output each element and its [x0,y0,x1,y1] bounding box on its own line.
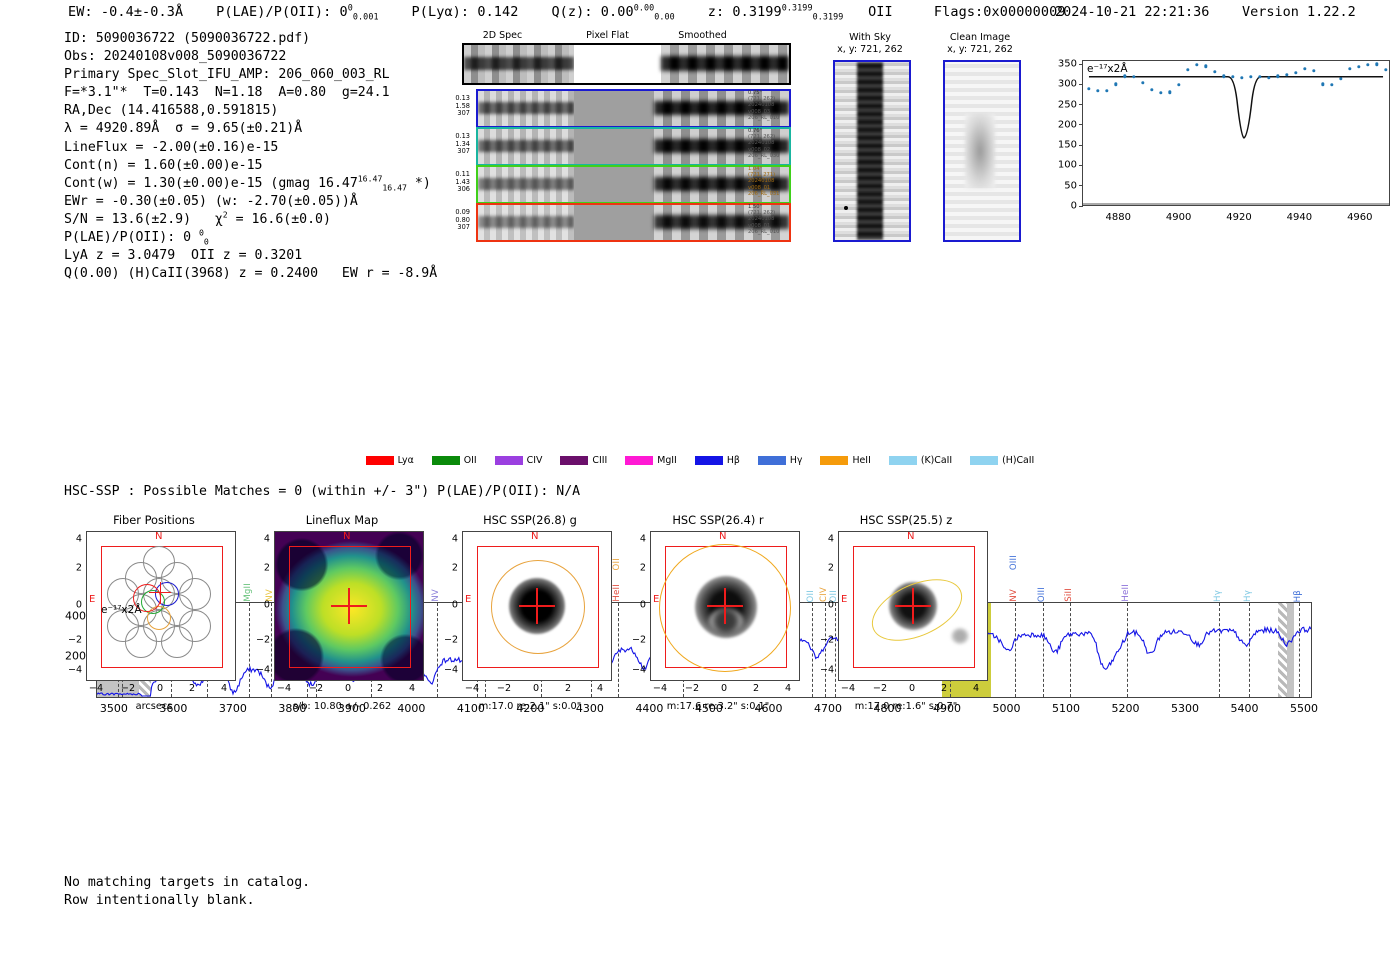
axis-y-tick: 0 [68,600,82,611]
axis-y-tick: −2 [820,635,834,646]
spectrum-y-ticks: 200400 [0,602,96,696]
spectrum-unit-label: e⁻¹⁷x2Å [101,604,142,616]
axis-y-tick: −4 [68,665,82,676]
fiber-pixelflat [574,167,654,202]
east-label: E [653,594,659,605]
legend-label: OII [464,455,477,466]
legend-item: (H)CaII [970,455,1034,466]
crosshair-h [895,605,931,607]
fiber-row-left-labels: 0.131.58307 [426,95,470,118]
axis-y-tick: 0 [632,600,646,611]
spec2d-title-smoothed: Smoothed [660,30,745,41]
legend-item: CIV [495,455,543,466]
info-primary-spec: Primary Spec_Slot_IFU_AMP: 206_060_003_R… [64,66,437,84]
legend-label: (K)CaII [921,455,952,466]
axis-y-tick: 4 [68,534,82,545]
spec2d-ws-2dspec-bright [464,57,574,70]
line-label-hγ: Hγ [1213,590,1223,602]
line-label-heii: HeII [612,584,622,602]
info-throughput: F=*3.1"* T=0.143 N=1.18 A=0.80 g=24.1 [64,84,437,102]
inset-y-tick: 100 [1058,160,1077,171]
axis-y-tick: 0 [820,600,834,611]
info-plae-ratio: P(LAE)/P(OII): 0 00 [64,229,437,247]
axis-x-tick: 2 [565,683,571,694]
legend-label: MgII [657,455,677,466]
aperture-box [289,546,411,668]
axis-y-tick: 2 [820,563,834,574]
axis-x-tick: −2 [685,683,699,694]
legend-swatch [889,456,917,465]
axis-x-tick: −2 [121,683,135,694]
north-label: N [343,531,350,542]
axis-y-tick: 4 [820,534,834,545]
spec2d-weighted-sum-row [462,43,791,85]
axis-x-tick: −4 [841,683,855,694]
axis-y-tick: −2 [68,635,82,646]
panel-title: Lineflux Map [248,513,436,529]
footer-line-1: No matching targets in catalog. [64,875,310,890]
fiber-pixelflat [574,205,654,240]
cutout-title-with-sky: With Skyx, y: 721, 262 [820,32,920,55]
axis-y-tick: 0 [444,600,458,611]
spec2d-title-pixelflat: Pixel Flat [565,30,650,41]
legend-label: CIII [592,455,607,466]
spectrum-y-tick: 200 [52,650,86,663]
axis-y-tick: 4 [444,534,458,545]
fiber-row-right-labels: 0.75"(721, 262)20240108v008_03206_RL_010 [748,90,780,121]
spec2d-fiber-row[interactable] [476,203,791,242]
line-label-mgii: MgII [243,583,253,602]
fiber-row-right-labels: 1.50"(721, 262)20240108v008_01206_RL_010 [748,204,780,235]
line-label-oii: OII [612,558,622,570]
spec2d-fiber-row[interactable] [476,127,791,166]
hsc-r-image[interactable]: N E [650,531,800,681]
east-label: E [89,594,95,605]
header-summary-line: EW: -0.4±-0.3Å P(LAE)/P(OII): 000.001 P(… [68,4,1066,20]
axis-x-tick: 2 [377,683,383,694]
spectrum-x-tick: 5100 [1052,702,1080,715]
timestamp: 2024-10-21 22:21:36 [1055,4,1209,20]
legend-swatch [495,456,523,465]
panel-caption: m:17.0 re:1.6" s:0.7" [812,701,1000,712]
axis-x-tick: −4 [653,683,667,694]
legend-item: Lyα [366,455,414,466]
east-label: E [841,594,847,605]
legend-swatch [820,456,848,465]
line-label-oii: OII [806,590,816,602]
info-lineflux: LineFlux = -2.00(±0.16)e-15 [64,139,437,157]
fiber-pixelflat [574,129,654,164]
hsc-summary-line: HSC-SSP : Possible Matches = 0 (within +… [64,484,580,499]
header-plae-sub: 0.001 [353,12,379,22]
legend-item: HeII [820,455,870,466]
info-lambda-sigma: λ = 4920.89Å σ = 9.65(±0.21)Å [64,120,437,138]
line-label-heii: HeII [1121,584,1131,602]
effective-radius-ellipse [491,560,585,654]
inset-y-tick: 150 [1058,140,1077,151]
axis-y-tick: −4 [820,665,834,676]
panel-title: Fiber Positions [60,513,248,529]
legend-swatch [432,456,460,465]
legend-item: OII [432,455,477,466]
crosshair-h [149,592,171,593]
inset-y-tick: 200 [1058,119,1077,130]
legend-swatch [560,456,588,465]
panel-title: HSC SSP(26.4) r [624,513,812,529]
panel-hsc-g[interactable]: HSC SSP(26.8) g N E 4 2 0 −2 −4 −4 −2 0 … [436,513,624,529]
panel-caption: m:17.0 re:2.1" s:0.0" [436,701,624,712]
legend-label: CIV [527,455,543,466]
info-cont-n: Cont(n) = 1.60(±0.00)e-15 [64,157,437,175]
axis-y-tick: −2 [444,635,458,646]
line-label-nv: NV [431,589,441,602]
spectrum-x-tick: 5400 [1231,702,1259,715]
axis-x-tick: 4 [973,683,979,694]
north-label: N [719,531,726,542]
axis-x-tick: 4 [597,683,603,694]
line-label-siii: SiII [1064,588,1074,602]
axis-x-tick: −4 [277,683,291,694]
spec2d-ws-smoothed-bright [661,56,789,71]
axis-y-tick: 0 [256,600,270,611]
north-label: N [531,531,538,542]
panel-title: HSC SSP(25.5) z [812,513,1000,529]
axis-y-tick: 2 [256,563,270,574]
spectrum-x-tick: 5200 [1112,702,1140,715]
north-label: N [907,531,914,542]
fiber-circle [179,578,211,610]
legend-swatch [366,456,394,465]
header-z: z: 0.3199 [708,4,782,20]
axis-x-tick: 2 [189,683,195,694]
info-chi-post: = 16.6(±0.0) [228,212,331,227]
line-zoom-inset-plot[interactable]: e⁻¹⁷x2Å 05010015020025030035048804900492… [1040,60,1392,232]
fiber-row-left-labels: 0.131.34307 [426,133,470,156]
inset-x-tick: 4880 [1106,212,1131,223]
fiber-circle [161,626,193,658]
axis-x-tick: 0 [909,683,915,694]
header-timestamp-block: 2024-10-21 22:21:36 Version 1.22.2 [1055,4,1356,20]
fiber-row-left-labels: 0.090.80307 [426,209,470,232]
header-plya: P(Lyα): 0.142 [412,4,519,20]
info-cont-w-pre: Cont(w) = 1.30(±0.00)e-15 (gmag 16.47 [64,176,358,191]
line-label-oiii: OIII [1037,587,1047,602]
axis-y-tick: 2 [444,563,458,574]
panel-hsc-z[interactable]: HSC SSP(25.5) z N E 4 2 0 −2 −4 −4 −2 0 … [812,513,1000,529]
fiber-row-right-labels: 0.76"(721, 262)20240108v008_02206_RL_030 [748,128,780,159]
line-label-hβ: Hβ [1293,590,1303,602]
lineflux-map-image[interactable]: N [274,531,424,681]
header-qz-sub: 0.00 [654,12,675,22]
header-qz-sup: 0.00 [634,3,655,13]
inset-x-tick: 4920 [1226,212,1251,223]
fiber-2dspec-core [478,216,574,228]
panel-lineflux-map[interactable]: Lineflux Map N 4 2 0 −2 −4 −4 −2 0 2 4 s… [248,513,436,529]
axis-y-tick: 2 [632,563,646,574]
info-sn-chi: S/N = 13.6(±2.9) χ2 = 16.6(±0.0) [64,211,437,229]
axis-x-tick: 0 [345,683,351,694]
cutout-clean-image[interactable] [943,60,1021,242]
axis-x-tick: 4 [409,683,415,694]
panel-fiber-positions[interactable]: Fiber Positions N E 4 2 0 −2 −4 −4 −2 0 … [60,513,248,529]
inset-y-tick: 250 [1058,99,1077,110]
legend-item: CIII [560,455,607,466]
spec2d-fiber-row[interactable] [476,165,791,204]
axis-x-tick: 0 [533,683,539,694]
spectrum-y-tick: 400 [52,610,86,623]
header-z-sub: 0.3199 [813,12,844,22]
version-label: Version 1.22.2 [1242,4,1356,20]
fiber-2dspec-core [478,102,574,114]
header-ew: EW: -0.4±-0.3Å [68,4,183,20]
spec2d-ws-pixelflat [574,45,661,83]
axis-x-tick: −2 [497,683,511,694]
line-label-hγ: Hγ [1243,590,1253,602]
spectrum-x-tick: 5300 [1171,702,1199,715]
panel-caption: m:17.6 re:3.2" s:0.1" [624,701,812,712]
cutout-trace [965,114,995,188]
inset-y-tick: 350 [1058,59,1077,70]
cutout-title-clean-image: Clean Imagex, y: 721, 262 [925,32,1035,55]
info-obs: Obs: 20240108v008_5090036722 [64,48,437,66]
footer-line-2: Row intentionally blank. [64,893,255,908]
spectrum-x-tick: 5500 [1290,702,1318,715]
header-z-sup: 0.3199 [782,3,813,13]
info-cont-w: Cont(w) = 1.30(±0.00)e-15 (gmag 16.4716.… [64,175,437,193]
legend-label: Lyα [398,455,414,466]
inset-x-tick: 4940 [1287,212,1312,223]
axis-y-tick: 4 [632,534,646,545]
axis-y-tick: −2 [632,635,646,646]
source-info-block: ID: 5090036722 (5090036722.pdf) Obs: 202… [64,30,437,283]
info-plae-pre: P(LAE)/P(OII): 0 [64,230,199,245]
fiber-row-right-labels: 1.04"(721, 271)20240108v008_01206_RL_031 [748,166,780,197]
axis-y-tick: −4 [632,665,646,676]
axis-x-tick: −4 [465,683,479,694]
info-sn-pre: S/N = 13.6(±2.9) χ [64,212,223,227]
axis-x-tick: −2 [309,683,323,694]
legend-swatch [625,456,653,465]
line-label-oiii: OIII [1009,555,1019,570]
crosshair-h [707,605,743,607]
inset-x-tick: 4960 [1347,212,1372,223]
axis-x-tick: 4 [221,683,227,694]
axis-x-tick: 0 [157,683,163,694]
fiber-2dspec-core [478,178,574,190]
fiber-row-left-labels: 0.111.43306 [426,171,470,194]
legend-swatch [758,456,786,465]
cutout-trace [857,62,883,240]
info-id: ID: 5090036722 (5090036722.pdf) [64,30,437,48]
fiber-2dspec-core [478,140,574,152]
axis-y-tick: 2 [68,563,82,574]
full-spectrum-plot[interactable]: e⁻¹⁷x2Å 35003600370038003900400041004200… [0,262,1400,477]
footer-note: No matching targets in catalog. Row inte… [64,874,310,910]
axis-y-tick: −2 [256,635,270,646]
spec2d-fiber-row[interactable] [476,89,791,128]
legend-item: Hγ [758,455,803,466]
crosshair-h [331,605,367,607]
header-plae-poii: P(LAE)/P(OII): 0 [216,4,348,20]
legend-swatch [970,456,998,465]
panel-title: HSC SSP(26.8) g [436,513,624,529]
panel-caption: arcsecs [60,701,248,712]
axis-x-tick: 4 [785,683,791,694]
info-radec: RA,Dec (14.416588,0.591815) [64,102,437,120]
header-flags: Flags:0x00000009 [934,4,1066,20]
inset-y-tick: 300 [1058,79,1077,90]
axis-x-tick: 2 [753,683,759,694]
north-label: N [155,531,162,542]
info-plae2-sub: 0 [204,237,209,247]
spec2d-title-2dspec: 2D Spec [460,30,545,41]
info-cont-w-sup: 16.47 [358,173,383,183]
inset-axis-ticks: 0501001502002503003504880490049204940496… [1082,60,1390,206]
axis-x-tick: 2 [941,683,947,694]
cutout-with-sky[interactable] [833,60,911,242]
info-ewr: EWr = -0.30(±0.05) (w: -2.70(±0.05))Å [64,193,437,211]
axis-y-tick: −4 [444,665,458,676]
legend-item: MgII [625,455,677,466]
legend-item: Hβ [695,455,740,466]
fiber-pixelflat [574,91,654,126]
axis-x-tick: −4 [89,683,103,694]
cutout-marker-dot [844,206,848,210]
info-cont-w-sub: 16.47 [382,182,407,192]
panel-caption: s/b: 10.80 +/- 0.262 [248,701,436,712]
hsc-z-image[interactable]: N E [838,531,988,681]
legend-label: (H)CaII [1002,455,1034,466]
inset-y-tick: 50 [1064,180,1077,191]
legend-swatch [695,456,723,465]
inset-y-tick: 0 [1071,201,1077,212]
axis-x-tick: −2 [873,683,887,694]
line-label-nv: NV [1009,589,1019,602]
hsc-g-image[interactable]: N E [462,531,612,681]
header-z-species: OII [868,4,893,20]
legend-item: (K)CaII [889,455,952,466]
fiber-circle [125,626,157,658]
inset-x-tick: 4900 [1166,212,1191,223]
axis-x-tick: 0 [721,683,727,694]
panel-hsc-r[interactable]: HSC SSP(26.4) r N E 4 2 0 −2 −4 −4 −2 0 … [624,513,812,529]
east-label: E [465,594,471,605]
legend-label: HeII [852,455,870,466]
spectrum-legend: LyαOIICIVCIIIMgIIHβHγHeII(K)CaII(H)CaII [0,455,1400,466]
legend-label: Hβ [727,455,740,466]
axis-y-tick: 4 [256,534,270,545]
crosshair-h [519,605,555,607]
legend-label: Hγ [790,455,803,466]
axis-y-tick: −4 [256,665,270,676]
header-qz: Q(z): 0.00 [551,4,633,20]
